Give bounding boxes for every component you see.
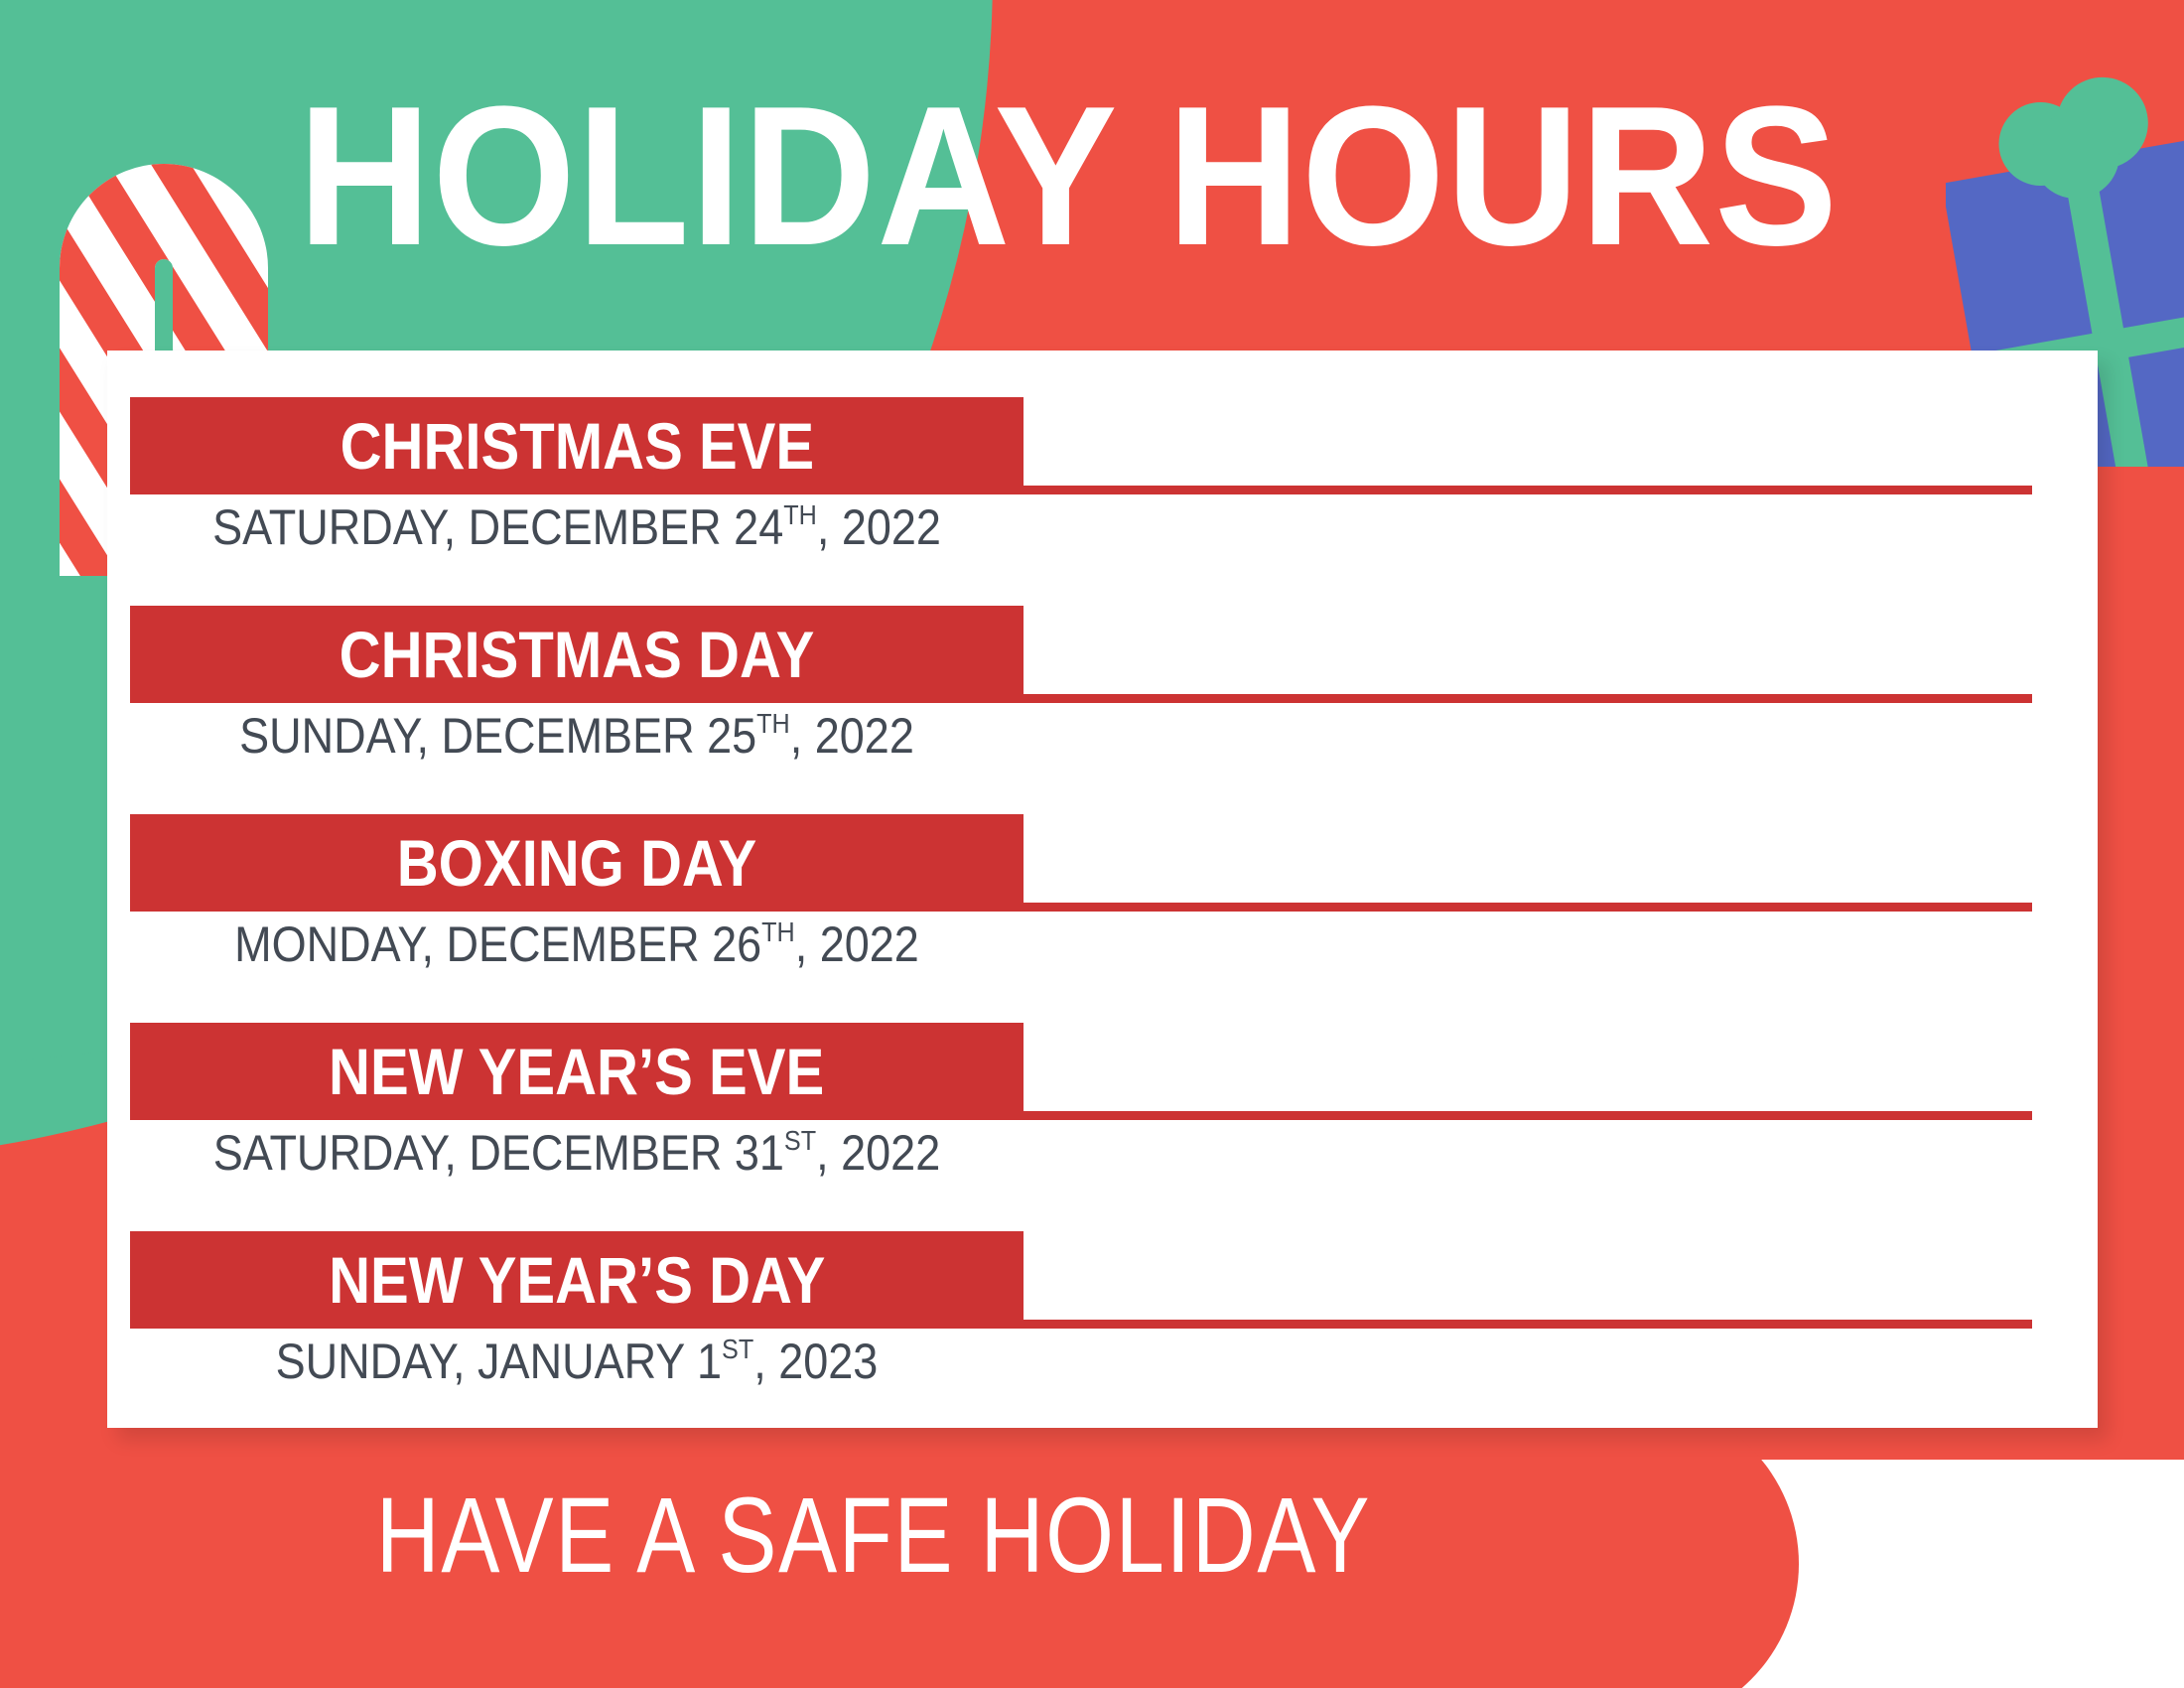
holiday-name: CHRISTMAS EVE bbox=[340, 413, 814, 479]
date-ordinal: ST bbox=[722, 1334, 753, 1364]
hours-rule bbox=[1024, 1111, 2032, 1120]
holiday-name: BOXING DAY bbox=[397, 830, 757, 896]
holiday-name: NEW YEAR’S DAY bbox=[329, 1247, 825, 1313]
holiday-hours-poster: HOLIDAY HOURS CHRISTMAS EVE SATURDAY, DE… bbox=[0, 0, 2184, 1688]
date-suffix: , 2022 bbox=[795, 916, 919, 972]
date-suffix: , 2022 bbox=[817, 499, 941, 555]
schedule-row: NEW YEAR’S EVE SATURDAY, DECEMBER 31ST, … bbox=[107, 1023, 2098, 1211]
date-suffix: , 2022 bbox=[790, 708, 914, 764]
date-prefix: SATURDAY, DECEMBER 31 bbox=[213, 1125, 784, 1181]
holiday-name: NEW YEAR’S EVE bbox=[329, 1039, 824, 1104]
date-ordinal: TH bbox=[783, 499, 817, 530]
hours-rule bbox=[1024, 903, 2032, 912]
date-prefix: SUNDAY, DECEMBER 25 bbox=[239, 708, 756, 764]
date-suffix: , 2022 bbox=[816, 1125, 940, 1181]
schedule-row: BOXING DAY MONDAY, DECEMBER 26TH, 2022 bbox=[107, 814, 2098, 1003]
holiday-banner: BOXING DAY bbox=[130, 814, 1024, 912]
schedule-row: NEW YEAR’S DAY SUNDAY, JANUARY 1ST, 2023 bbox=[107, 1231, 2098, 1420]
hours-rule bbox=[1024, 694, 2032, 703]
date-ordinal: TH bbox=[761, 916, 795, 947]
holiday-date: MONDAY, DECEMBER 26TH, 2022 bbox=[175, 914, 979, 976]
holiday-date: SATURDAY, DECEMBER 31ST, 2022 bbox=[175, 1122, 979, 1185]
date-ordinal: TH bbox=[756, 708, 790, 739]
hours-rule bbox=[1024, 1320, 2032, 1329]
page-title: HOLIDAY HOURS bbox=[298, 77, 1831, 276]
date-prefix: MONDAY, DECEMBER 26 bbox=[234, 916, 761, 972]
date-prefix: SUNDAY, JANUARY 1 bbox=[276, 1334, 722, 1389]
schedule-row: CHRISTMAS DAY SUNDAY, DECEMBER 25TH, 202… bbox=[107, 606, 2098, 794]
date-suffix: , 2023 bbox=[753, 1334, 878, 1389]
hours-rule bbox=[1024, 486, 2032, 494]
holiday-banner: NEW YEAR’S EVE bbox=[130, 1023, 1024, 1120]
date-prefix: SATURDAY, DECEMBER 24 bbox=[212, 499, 783, 555]
footer-message: HAVE A SAFE HOLIDAY bbox=[157, 1481, 1589, 1589]
holiday-date: SUNDAY, JANUARY 1ST, 2023 bbox=[175, 1331, 979, 1393]
holiday-name: CHRISTMAS DAY bbox=[340, 622, 815, 687]
schedule-rows: CHRISTMAS EVE SATURDAY, DECEMBER 24TH, 2… bbox=[107, 351, 2098, 1428]
holiday-banner: CHRISTMAS DAY bbox=[130, 606, 1024, 703]
schedule-card: CHRISTMAS EVE SATURDAY, DECEMBER 24TH, 2… bbox=[107, 351, 2098, 1428]
holiday-date: SUNDAY, DECEMBER 25TH, 2022 bbox=[175, 705, 979, 768]
schedule-row: CHRISTMAS EVE SATURDAY, DECEMBER 24TH, 2… bbox=[107, 397, 2098, 586]
date-ordinal: ST bbox=[784, 1125, 816, 1156]
holiday-banner: NEW YEAR’S DAY bbox=[130, 1231, 1024, 1329]
holiday-banner: CHRISTMAS EVE bbox=[130, 397, 1024, 494]
holiday-date: SATURDAY, DECEMBER 24TH, 2022 bbox=[175, 496, 979, 559]
